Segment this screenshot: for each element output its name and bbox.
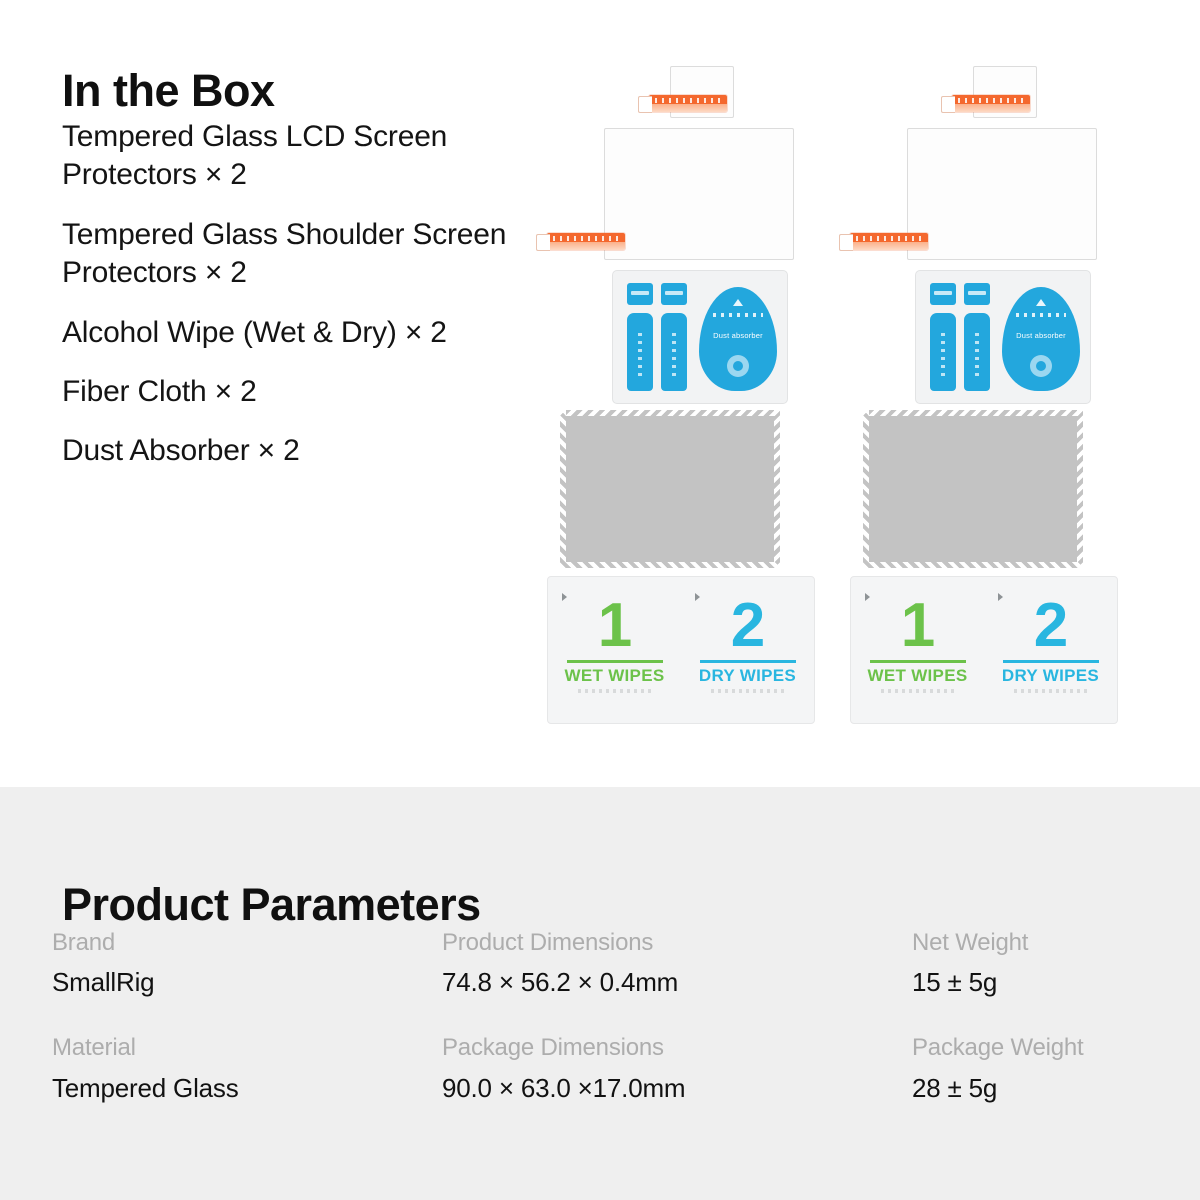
dust-absorber-teardrop: Dust absorber: [1002, 287, 1080, 391]
peel-tab-icon: [547, 233, 625, 250]
param-label: Product Dimensions: [442, 927, 896, 959]
list-item: Tempered Glass LCD Screen Protectors × 2: [62, 118, 562, 195]
dry-wipe-panel: 2 DRY WIPES: [984, 577, 1117, 723]
param-package-weight: Package Weight 28 ± 5g: [912, 1032, 1152, 1105]
lcd-screen-protector-glass: [907, 128, 1097, 260]
absorber-strip: [964, 313, 990, 391]
dust-absorber-label: Dust absorber: [1002, 331, 1080, 340]
wipe-step-label: WET WIPES: [560, 666, 670, 686]
product-parameters-title: Product Parameters: [62, 879, 481, 931]
absorber-logo-icon: [1030, 355, 1052, 377]
lcd-screen-protector-glass: [604, 128, 794, 260]
param-value: SmallRig: [52, 965, 426, 1000]
product-photo-group: Dust absorber 1 WET WIPES: [520, 58, 1180, 748]
wipe-step-number: 1: [863, 597, 973, 656]
peel-tab-icon: [952, 95, 1030, 112]
wet-wipe-panel: 1 WET WIPES: [548, 577, 681, 723]
in-the-box-title: In the Box: [62, 66, 275, 116]
dust-absorber-sheet: Dust absorber: [915, 270, 1091, 404]
param-net-weight: Net Weight 15 ± 5g: [912, 927, 1152, 1000]
parameters-table: Brand SmallRig Product Dimensions 74.8 ×…: [52, 927, 1152, 1106]
absorber-strip: [661, 313, 687, 391]
absorber-small-square: [964, 283, 990, 305]
list-item: Dust Absorber × 2: [62, 432, 562, 470]
table-row: Material Tempered Glass Package Dimensio…: [52, 1032, 1152, 1105]
in-the-box-section: In the Box Tempered Glass LCD Screen Pro…: [0, 0, 1200, 787]
up-arrow-icon: [1036, 299, 1046, 306]
param-label: Net Weight: [912, 927, 1136, 959]
dry-wipe-panel: 2 DRY WIPES: [681, 577, 814, 723]
perforation-line: [713, 313, 763, 317]
param-label: Material: [52, 1032, 426, 1064]
list-item: Alcohol Wipe (Wet & Dry) × 2: [62, 314, 562, 352]
param-material: Material Tempered Glass: [52, 1032, 442, 1105]
list-item: Fiber Cloth × 2: [62, 373, 562, 411]
absorber-small-square: [627, 283, 653, 305]
peel-tab-icon: [649, 95, 727, 112]
param-label: Package Weight: [912, 1032, 1136, 1064]
table-row: Brand SmallRig Product Dimensions 74.8 ×…: [52, 927, 1152, 1000]
param-label: Package Dimensions: [442, 1032, 896, 1064]
param-value: 90.0 × 63.0 ×17.0mm: [442, 1071, 896, 1106]
dust-absorber-label: Dust absorber: [699, 331, 777, 340]
in-the-box-list: Tempered Glass LCD Screen Protectors × 2…: [62, 118, 562, 471]
kit-group-1: Dust absorber 1 WET WIPES: [542, 58, 832, 748]
wipe-step-label: DRY WIPES: [996, 666, 1106, 686]
absorber-strip: [930, 313, 956, 391]
perforation-line: [1016, 313, 1066, 317]
up-arrow-icon: [733, 299, 743, 306]
dust-absorber-sheet: Dust absorber: [612, 270, 788, 404]
absorber-small-square: [930, 283, 956, 305]
absorber-strip: [627, 313, 653, 391]
fiber-cloth: [863, 410, 1083, 568]
fiber-cloth: [560, 410, 780, 568]
peel-tab-icon: [850, 233, 928, 250]
absorber-small-square: [661, 283, 687, 305]
param-package-dimensions: Package Dimensions 90.0 × 63.0 ×17.0mm: [442, 1032, 912, 1105]
alcohol-wipes-packet: 1 WET WIPES 2 DRY WIPES: [850, 576, 1118, 724]
param-value: 74.8 × 56.2 × 0.4mm: [442, 965, 896, 1000]
wipe-step-number: 2: [996, 597, 1106, 656]
shoulder-screen-protector-glass: [670, 66, 734, 118]
param-brand: Brand SmallRig: [52, 927, 442, 1000]
wipe-step-number: 2: [693, 597, 803, 656]
param-product-dimensions: Product Dimensions 74.8 × 56.2 × 0.4mm: [442, 927, 912, 1000]
kit-group-2: Dust absorber 1 WET WIPES: [845, 58, 1135, 748]
wipe-step-label: DRY WIPES: [693, 666, 803, 686]
wipe-step-label: WET WIPES: [863, 666, 973, 686]
wet-wipe-panel: 1 WET WIPES: [851, 577, 984, 723]
absorber-logo-icon: [727, 355, 749, 377]
list-item: Tempered Glass Shoulder Screen Protector…: [62, 216, 562, 293]
param-label: Brand: [52, 927, 426, 959]
wipe-step-number: 1: [560, 597, 670, 656]
product-parameters-section: Product Parameters Brand SmallRig Produc…: [0, 787, 1200, 1200]
dust-absorber-teardrop: Dust absorber: [699, 287, 777, 391]
param-value: Tempered Glass: [52, 1071, 426, 1106]
shoulder-screen-protector-glass: [973, 66, 1037, 118]
param-value: 15 ± 5g: [912, 965, 1136, 1000]
alcohol-wipes-packet: 1 WET WIPES 2 DRY WIPES: [547, 576, 815, 724]
param-value: 28 ± 5g: [912, 1071, 1136, 1106]
